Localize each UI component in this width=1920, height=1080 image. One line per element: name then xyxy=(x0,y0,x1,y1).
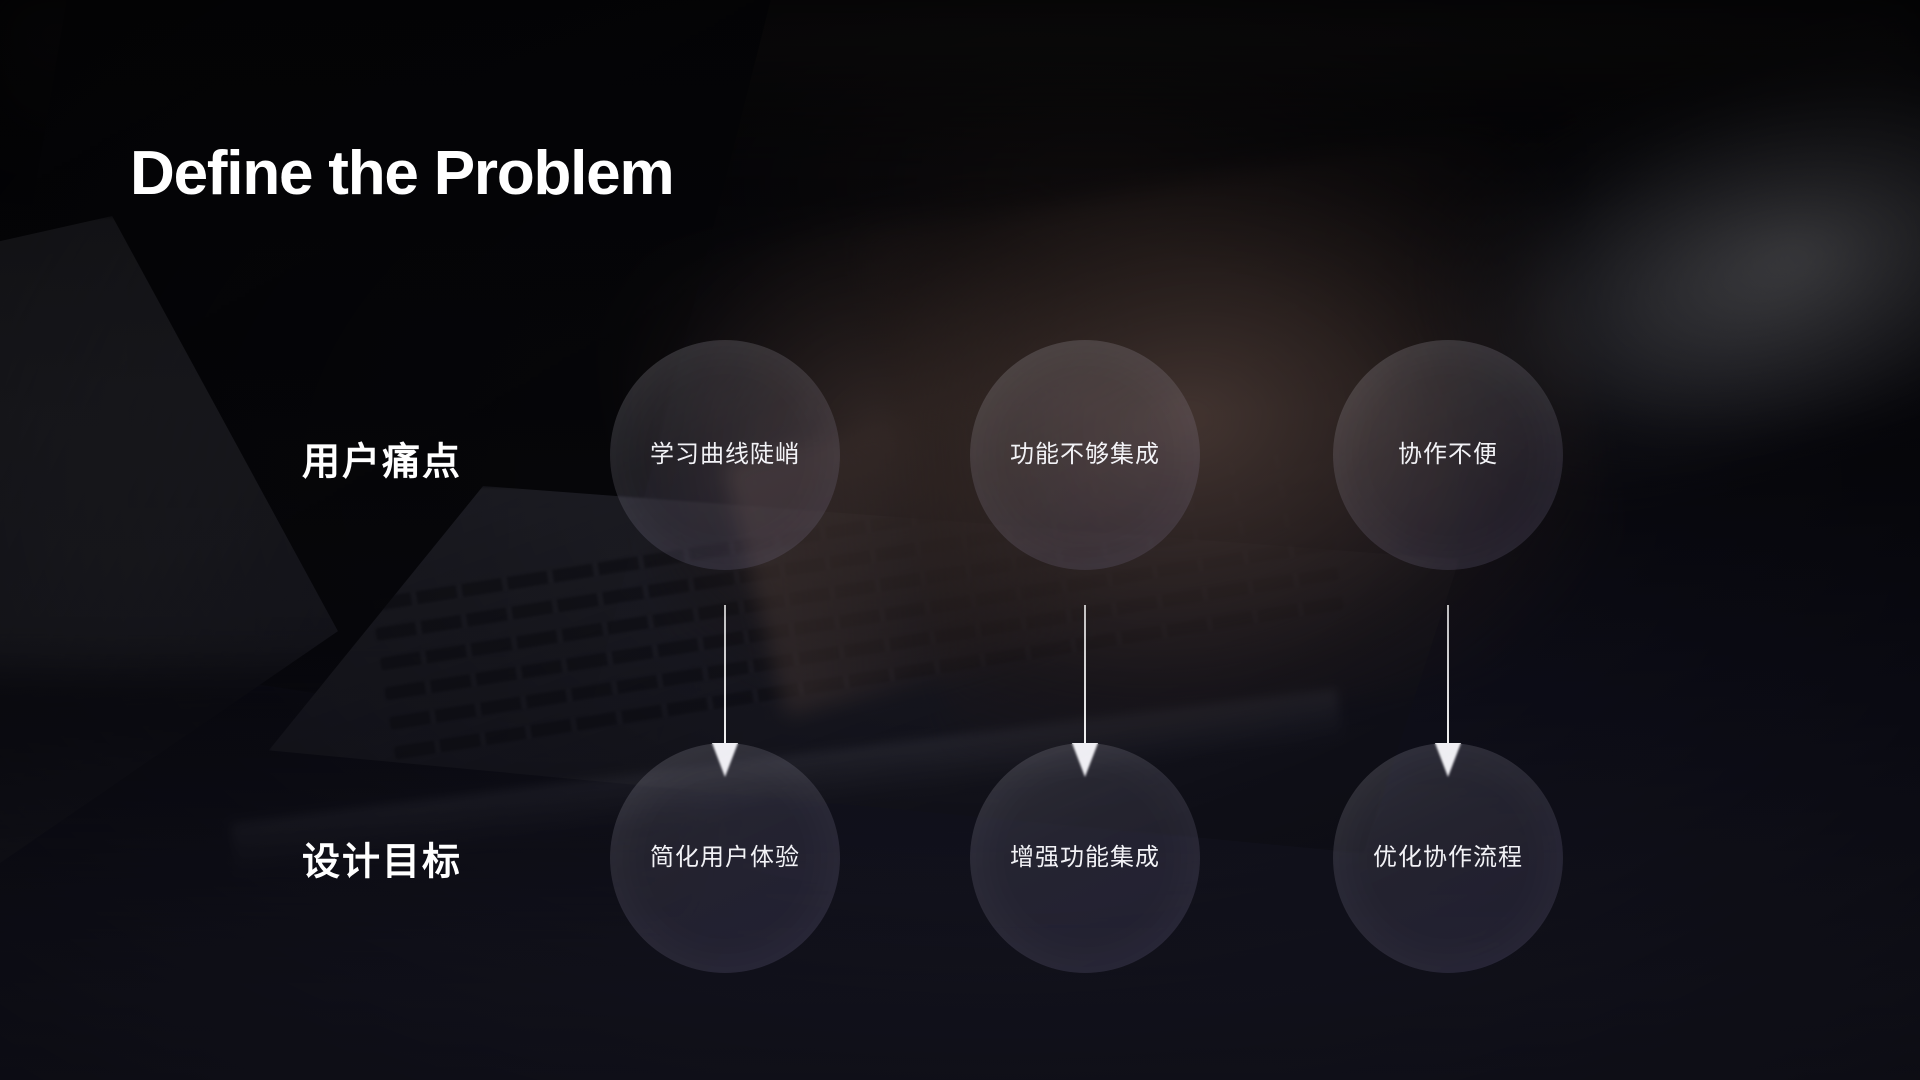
slide-root: Define the Problem 用户痛点 设计目标 学习曲线陡峭 功能不够… xyxy=(0,0,1920,1080)
design-goal-bubble-2[interactable]: 增强功能集成 xyxy=(970,743,1200,973)
pain-point-label-2: 功能不够集成 xyxy=(1010,441,1160,470)
row-label-design-goals: 设计目标 xyxy=(302,831,462,886)
pain-point-label-1: 学习曲线陡峭 xyxy=(650,441,800,470)
design-goal-label-1: 简化用户体验 xyxy=(650,844,800,873)
arrow-shaft xyxy=(1084,605,1086,747)
slide-content: Define the Problem 用户痛点 设计目标 学习曲线陡峭 功能不够… xyxy=(0,0,1920,1080)
design-goal-label-3: 优化协作流程 xyxy=(1373,844,1523,873)
arrow-shaft xyxy=(724,605,726,747)
design-goal-bubble-3[interactable]: 优化协作流程 xyxy=(1333,743,1563,973)
pain-point-label-3: 协作不便 xyxy=(1398,441,1498,470)
pain-point-bubble-1[interactable]: 学习曲线陡峭 xyxy=(610,340,840,570)
row-label-pain-points: 用户痛点 xyxy=(302,431,462,486)
arrow-shaft xyxy=(1447,605,1449,747)
pain-point-bubble-3[interactable]: 协作不便 xyxy=(1333,340,1563,570)
design-goal-label-2: 增强功能集成 xyxy=(1010,844,1160,873)
design-goal-bubble-1[interactable]: 简化用户体验 xyxy=(610,743,840,973)
pain-point-bubble-2[interactable]: 功能不够集成 xyxy=(970,340,1200,570)
page-title: Define the Problem xyxy=(130,143,673,205)
